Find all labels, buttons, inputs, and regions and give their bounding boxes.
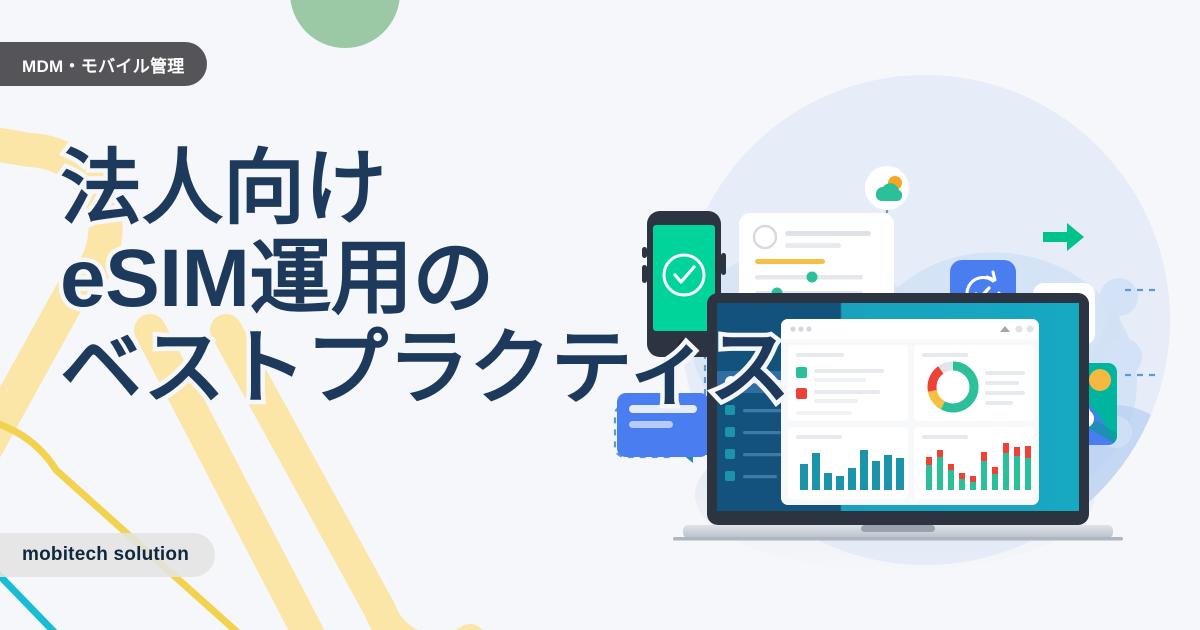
headline-line-3: ベストプラクティス bbox=[60, 328, 790, 410]
headline-line-1: 法人向け bbox=[60, 148, 790, 230]
cloud-sync-badge[interactable] bbox=[865, 166, 909, 210]
hero-banner: 法人向け eSIM運用の ベストプラクティス MDM・モバイル管理 mobite… bbox=[0, 0, 1200, 630]
panel-usage-bars bbox=[914, 427, 1034, 499]
dashboard-window[interactable] bbox=[781, 319, 1039, 505]
panel-enrollment-bars bbox=[788, 427, 908, 499]
panel-compliance-donut bbox=[914, 345, 1034, 421]
window-control-2[interactable] bbox=[1026, 325, 1033, 332]
window-dot-1 bbox=[790, 326, 795, 331]
panel-status-list bbox=[788, 345, 908, 421]
window-control-1[interactable] bbox=[1015, 325, 1022, 332]
brand-badge-label: mobitech solution bbox=[22, 544, 189, 566]
category-badge[interactable]: MDM・モバイル管理 bbox=[0, 42, 207, 86]
brand-badge[interactable]: mobitech solution bbox=[0, 533, 215, 577]
sun-icon bbox=[1089, 369, 1111, 391]
window-dot-3 bbox=[806, 326, 811, 331]
headline-line-2: eSIM運用の bbox=[60, 238, 790, 320]
category-badge-label: MDM・モバイル管理 bbox=[22, 52, 185, 77]
dot-decoration-1 bbox=[1100, 278, 1138, 316]
window-dot-2 bbox=[798, 326, 803, 331]
toggle-dot-1[interactable] bbox=[807, 272, 818, 283]
laptop-base bbox=[673, 525, 1123, 541]
page-title: 法人向け eSIM運用の ベストプラクティス bbox=[60, 148, 790, 418]
